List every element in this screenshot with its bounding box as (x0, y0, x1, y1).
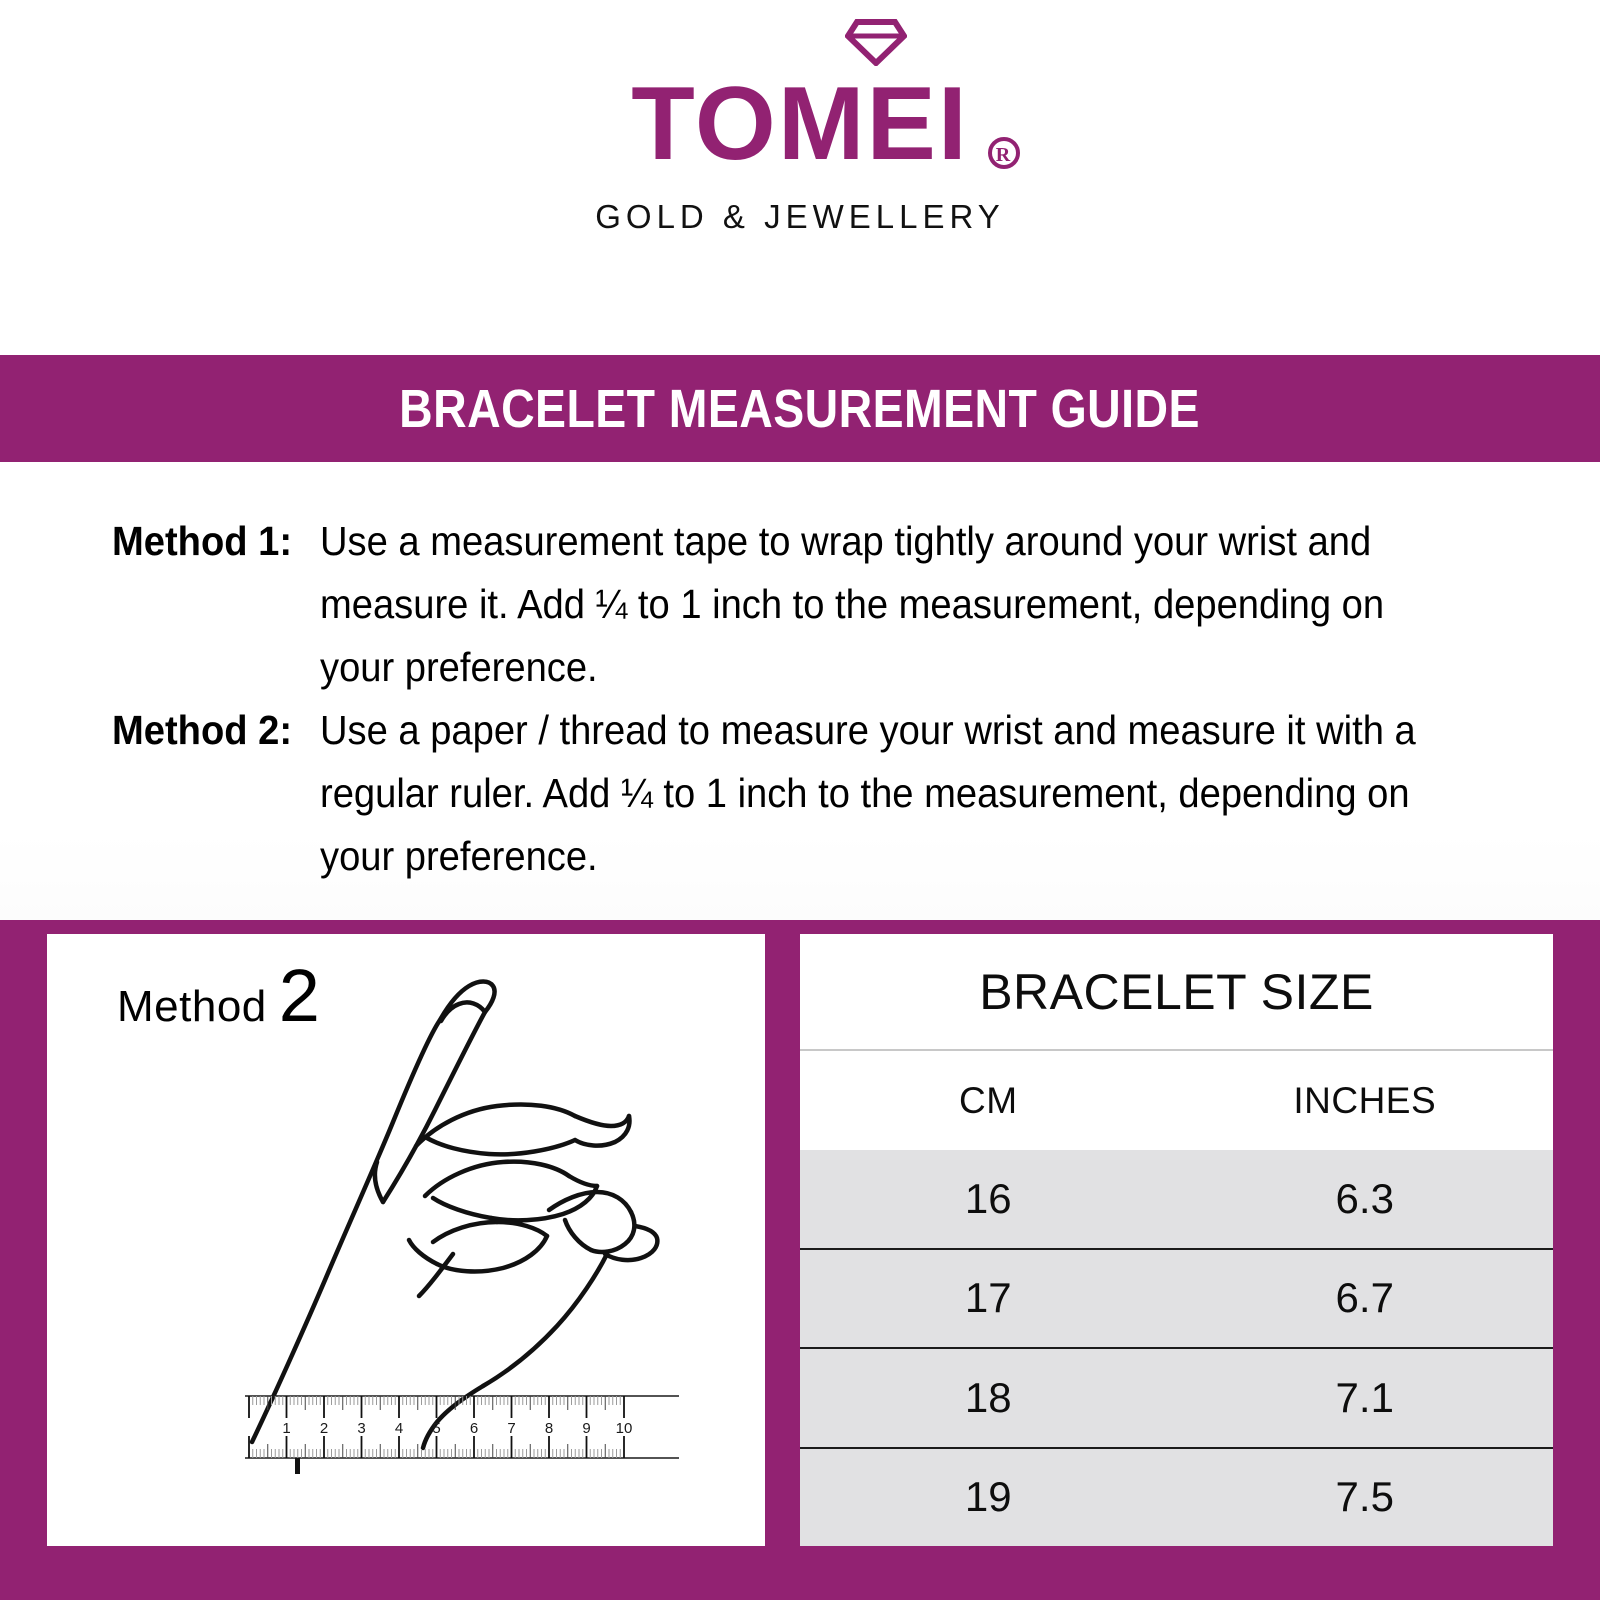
cell-inches: 6.7 (1177, 1274, 1554, 1322)
cell-inches: 7.5 (1177, 1473, 1554, 1521)
table-header-row: CM INCHES (800, 1051, 1553, 1150)
ruler-number: 5 (432, 1420, 440, 1437)
methods-section: Method 1: Use a measurement tape to wrap… (0, 462, 1600, 920)
logo-wordmark-text: TOMEI (631, 66, 968, 182)
logo: TOMEI R GOLD & JEWELLERY (565, 72, 1035, 236)
table-row: 16 6.3 (800, 1150, 1553, 1248)
illustration-panel: Method 2 (47, 934, 765, 1546)
column-header-cm: CM (800, 1080, 1177, 1122)
method-2-label: Method 2: (112, 699, 305, 762)
page-title: BRACELET MEASUREMENT GUIDE (400, 378, 1201, 440)
logo-wordmark: TOMEI R (631, 72, 968, 176)
cell-cm: 18 (800, 1374, 1177, 1422)
method-2-text: Use a paper / thread to measure your wri… (320, 699, 1429, 888)
ruler-number: 9 (582, 1420, 590, 1437)
ruler-number: 3 (357, 1420, 365, 1437)
table-row: 18 7.1 (800, 1347, 1553, 1447)
bracelet-size-table-panel: BRACELET SIZE CM INCHES 16 6.3 17 6.7 18… (800, 934, 1553, 1546)
ruler-number: 7 (507, 1420, 515, 1437)
cell-inches: 6.3 (1177, 1175, 1554, 1223)
bracelet-measurement-guide-page: TOMEI R GOLD & JEWELLERY BRACELET MEASUR… (0, 0, 1600, 1600)
ruler-number: 4 (395, 1420, 403, 1437)
page-title-banner: BRACELET MEASUREMENT GUIDE (0, 355, 1600, 462)
ruler-number: 2 (320, 1420, 328, 1437)
cell-inches: 7.1 (1177, 1374, 1554, 1422)
ruler-number: 8 (545, 1420, 553, 1437)
table-row: 19 7.5 (800, 1447, 1553, 1547)
column-header-inches: INCHES (1177, 1080, 1554, 1122)
method-1-block: Method 1: Use a measurement tape to wrap… (112, 510, 1512, 699)
method-1-text: Use a measurement tape to wrap tightly a… (320, 510, 1429, 699)
ruler-number: 1 (282, 1420, 290, 1437)
cell-cm: 17 (800, 1274, 1177, 1322)
brand-header: TOMEI R GOLD & JEWELLERY (0, 0, 1600, 355)
diamond-icon (845, 18, 907, 66)
cell-cm: 16 (800, 1175, 1177, 1223)
ruler-icon: 12345678910 (237, 1382, 687, 1502)
svg-text:R: R (995, 144, 1011, 166)
method-1-label: Method 1: (112, 510, 305, 573)
bottom-section: Method 2 (0, 920, 1600, 1600)
table-title: BRACELET SIZE (800, 934, 1553, 1051)
bracelet-size-table: BRACELET SIZE CM INCHES 16 6.3 17 6.7 18… (800, 934, 1553, 1546)
method-2-block: Method 2: Use a paper / thread to measur… (112, 699, 1512, 888)
ruler-number: 6 (470, 1420, 478, 1437)
registered-trademark-icon: R (987, 136, 1021, 170)
table-row: 17 6.7 (800, 1248, 1553, 1348)
cell-cm: 19 (800, 1473, 1177, 1521)
ruler-number: 10 (616, 1420, 633, 1437)
logo-tagline: GOLD & JEWELLERY (565, 198, 1035, 236)
